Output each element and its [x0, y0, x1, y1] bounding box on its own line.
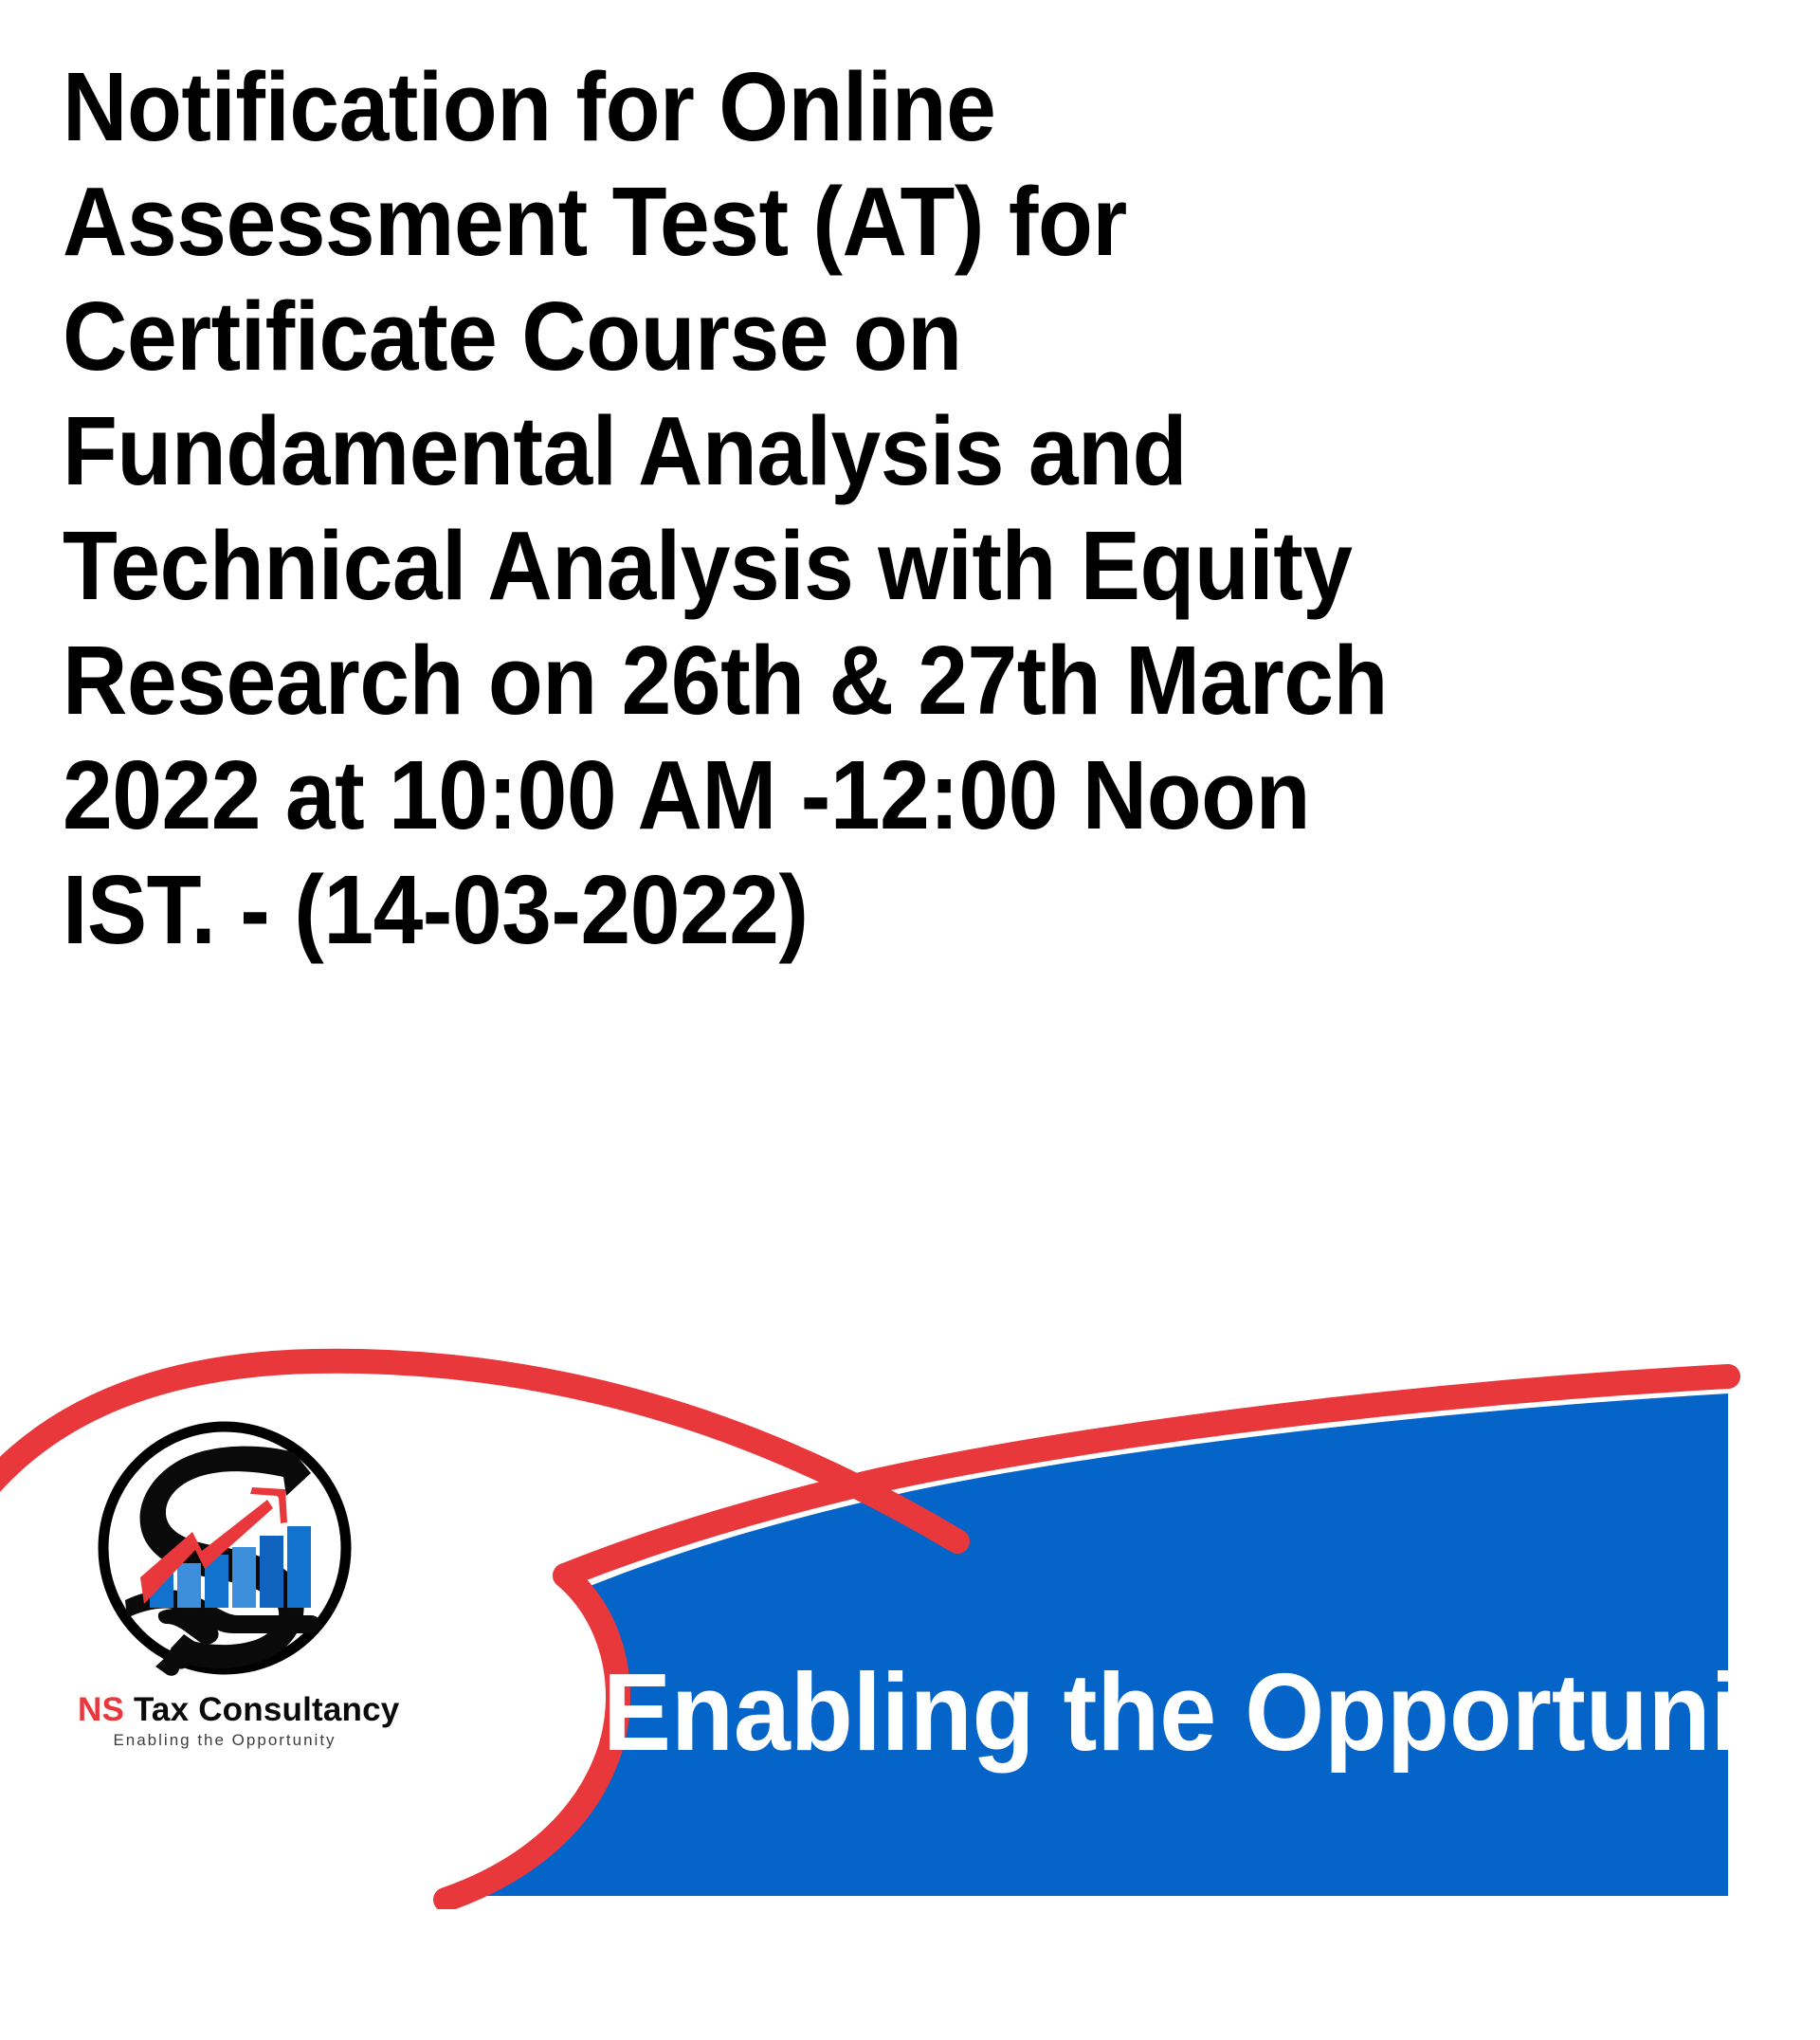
title-line-8: IST. - (14-03-2022): [63, 852, 1624, 967]
logo-company-name: NS Tax Consultancy: [78, 1691, 372, 1729]
banner-tagline-text: Enabling the Opportunit: [603, 1641, 1649, 1783]
title-line-3: Certificate Course on: [63, 279, 1624, 393]
title-line-1: Notification for Online: [63, 49, 1624, 164]
title-line-6: Research on 26th & 27th March: [63, 623, 1624, 738]
logo-tagline: Enabling the Opportunity: [78, 1729, 372, 1752]
title-line-5: Technical Analysis with Equity: [63, 508, 1624, 623]
title-line-7: 2022 at 10:00 AM -12:00 Noon: [63, 738, 1624, 852]
logo-mark: [91, 1414, 358, 1682]
notification-flyer: Notification for Online Assessment Test …: [0, 0, 1820, 2040]
logo-company-accent: NS: [78, 1691, 124, 1728]
logo-mark-graphic: [91, 1414, 358, 1682]
title-line-4: Fundamental Analysis and: [63, 393, 1624, 508]
logo: NS Tax Consultancy Enabling the Opportun…: [78, 1414, 372, 1784]
logo-company-rest: Tax Consultancy: [124, 1691, 399, 1728]
banner-tagline: Enabling the Opportunit: [603, 1641, 1728, 1783]
title-line-2: Assessment Test (AT) for: [63, 164, 1624, 279]
page-title: Notification for Online Assessment Test …: [63, 49, 1759, 967]
logo-wordmark: NS Tax Consultancy Enabling the Opportun…: [78, 1691, 372, 1752]
